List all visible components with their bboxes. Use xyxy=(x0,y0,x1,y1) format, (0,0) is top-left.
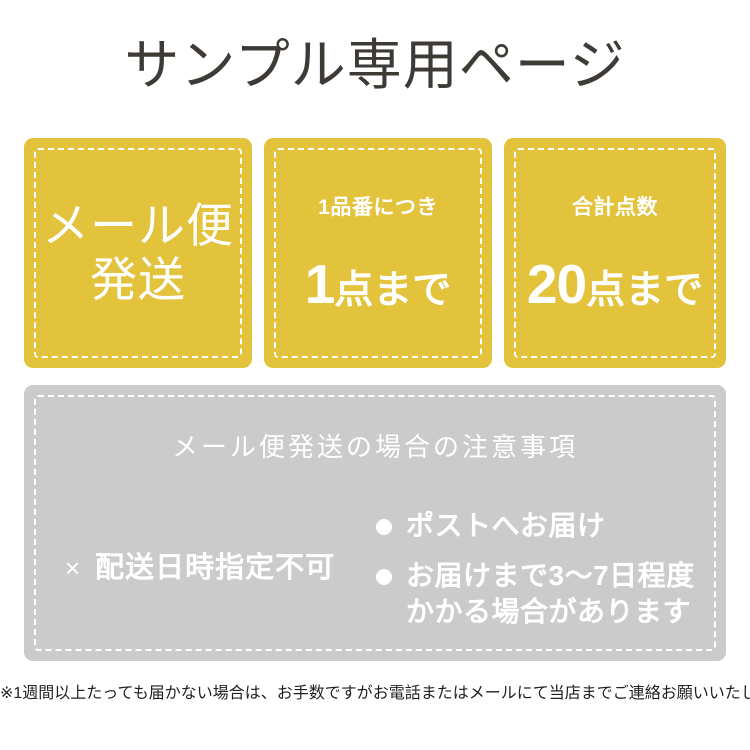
per-item-label: 1品番につき xyxy=(318,195,438,221)
notice-panel: メール便発送の場合の注意事項 × 配送日時指定不可 ポストへお届け xyxy=(24,385,726,661)
total-items-number: 20 xyxy=(527,257,586,312)
notice-heading: メール便発送の場合の注意事項 xyxy=(24,431,726,463)
total-items-unit: 点まで xyxy=(586,271,703,310)
per-item-number: 1 xyxy=(305,257,335,312)
bullet-dot-icon xyxy=(376,569,392,585)
bullet-text-line: ポストへお届け xyxy=(406,510,606,541)
per-item-value: 1 点まで xyxy=(305,257,452,312)
notice-right-column: ポストへお届け お届けまで3〜7日程度 かかる場合があります xyxy=(376,498,726,630)
info-cards-row: メール便 発送 1品番につき 1 点まで 合計点数 20 点まで xyxy=(24,138,726,368)
shipping-method-line-2: 発送 xyxy=(90,253,186,307)
sample-shipping-info-banner: サンプル専用ページ メール便 発送 1品番につき 1 点まで 合計点数 20 点… xyxy=(0,0,750,750)
no-date-designation-text: 配送日時指定不可 xyxy=(95,550,335,586)
total-items-value: 20 点まで xyxy=(527,257,703,312)
card-per-item-limit: 1品番につき 1 点まで xyxy=(264,138,492,368)
bullet-text-block: お届けまで3〜7日程度 かかる場合があります xyxy=(406,558,695,630)
footnote-text: ※1週間以上たっても届かない場合は、お手数ですがお電話またはメールにて当店までご… xyxy=(0,683,750,705)
bullet-dot-icon xyxy=(376,519,392,535)
total-items-label: 合計点数 xyxy=(572,195,658,221)
card-total-items-limit: 合計点数 20 点まで xyxy=(504,138,726,368)
bullet-text-line: お届けまで3〜7日程度 xyxy=(406,558,695,594)
bullet-text-line: かかる場合があります xyxy=(406,594,695,630)
cross-mark-icon: × xyxy=(65,555,81,581)
notice-body: × 配送日時指定不可 ポストへお届け お届けまで3〜7日程度 かかる場合がありま… xyxy=(24,498,726,638)
per-item-unit: 点まで xyxy=(334,271,451,310)
list-item: ポストへお届け xyxy=(376,508,726,544)
shipping-method-line-1: メール便 xyxy=(42,199,234,253)
page-title: サンプル専用ページ xyxy=(0,32,750,98)
notice-left-column: × 配送日時指定不可 xyxy=(24,498,376,638)
list-item: お届けまで3〜7日程度 かかる場合があります xyxy=(376,558,726,630)
bullet-text-block: ポストへお届け xyxy=(406,508,606,544)
card-shipping-method: メール便 発送 xyxy=(24,138,252,368)
no-date-designation-item: × 配送日時指定不可 xyxy=(65,550,335,586)
